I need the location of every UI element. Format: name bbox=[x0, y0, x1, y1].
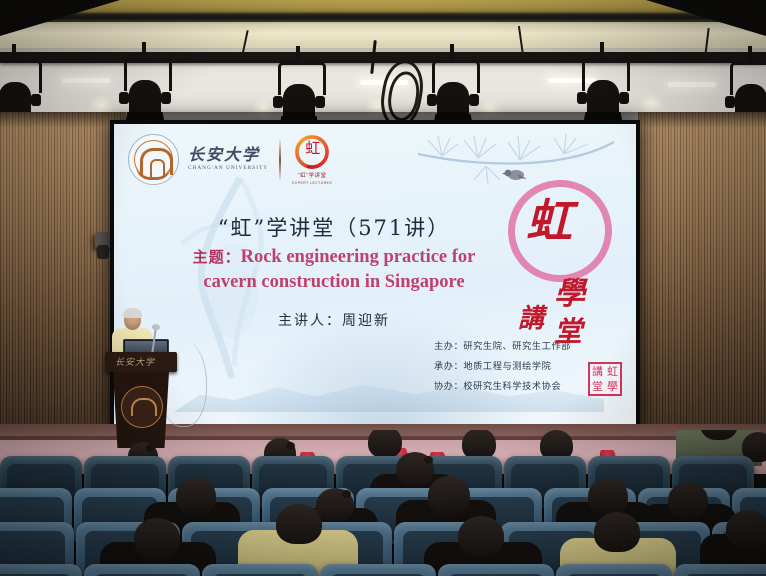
lecture-series-name-cn: “虹”学讲堂 bbox=[298, 171, 327, 179]
slide-title: “虹”学讲堂（571讲） bbox=[114, 212, 554, 242]
presenter-hair bbox=[123, 308, 142, 318]
slide-topic-line-2: cavern construction in Singapore bbox=[114, 272, 554, 293]
light-knob bbox=[619, 92, 629, 104]
audience-head bbox=[588, 478, 628, 514]
calligraphy-block: 虹 學 講 堂 講 虹 堂 學 bbox=[496, 180, 628, 390]
hair-bun bbox=[342, 490, 351, 498]
strip-light bbox=[62, 78, 110, 83]
audience-head bbox=[368, 430, 402, 458]
calligraphy-jiang: 講 bbox=[518, 298, 544, 335]
audience-head bbox=[134, 518, 180, 558]
light-knob bbox=[273, 96, 283, 108]
podium-top: 长安大学 bbox=[105, 352, 177, 372]
light-knob bbox=[427, 94, 437, 106]
topic-text-1: Rock engineering practice for bbox=[241, 247, 476, 267]
seal-char: 堂 bbox=[590, 379, 605, 394]
slide-topic-line-1: 主题：Rock engineering practice for bbox=[114, 246, 554, 268]
calligraphy-xue: 學 bbox=[554, 268, 585, 313]
hair-bun bbox=[146, 444, 155, 452]
ceiling-cove-band bbox=[0, 22, 766, 50]
university-name-block: 长安大学 CHANG'AN UNIVERSITY bbox=[188, 147, 268, 171]
slide-speaker-line: 主讲人：周迎新 bbox=[114, 310, 554, 330]
slide-logos: 长安大学 CHANG'AN UNIVERSITY 虹 “虹”学讲堂 EXPERT… bbox=[128, 134, 332, 185]
podium-emblem-icon bbox=[121, 386, 163, 428]
lecture-series-logo: 虹 “虹”学讲堂 EXPERT LECTURES bbox=[292, 135, 332, 185]
seal-char: 虹 bbox=[605, 364, 620, 379]
audience-head bbox=[176, 478, 216, 514]
wall-shading bbox=[638, 112, 766, 462]
light-knob bbox=[161, 92, 171, 104]
auditorium-seat bbox=[0, 564, 82, 576]
calligraphy-tang: 堂 bbox=[554, 310, 582, 350]
university-name-cn: 长安大学 bbox=[188, 147, 268, 163]
auditorium-seat bbox=[320, 564, 436, 576]
light-knob bbox=[577, 92, 587, 104]
lecture-series-name-en: EXPERT LECTURES bbox=[292, 181, 332, 185]
calligraphy-hong: 虹 bbox=[526, 198, 572, 244]
podium-label: 长安大学 bbox=[115, 355, 155, 368]
audience-head bbox=[668, 482, 708, 518]
hong-ring-wrapper: 虹 bbox=[295, 135, 329, 169]
auditorium-seat bbox=[202, 564, 318, 576]
auditorium-seat bbox=[674, 564, 766, 576]
hong-glyph: 虹 bbox=[305, 141, 318, 161]
university-name-en: CHANG'AN UNIVERSITY bbox=[188, 166, 268, 171]
chang-an-university-emblem-icon bbox=[128, 134, 179, 185]
ceiling bbox=[0, 0, 766, 128]
seal-char: 學 bbox=[605, 379, 620, 394]
auditorium-seat bbox=[438, 564, 554, 576]
hair-bun bbox=[424, 456, 433, 464]
audience-head bbox=[276, 504, 322, 544]
audience-head bbox=[726, 510, 766, 548]
audience-area bbox=[0, 430, 766, 576]
strip-light bbox=[668, 82, 716, 87]
light-knob bbox=[31, 94, 41, 106]
light-knob bbox=[469, 94, 479, 106]
light-knob bbox=[725, 96, 735, 108]
lighting-truss bbox=[0, 52, 766, 63]
auditorium-seat bbox=[84, 564, 200, 576]
downlight bbox=[96, 102, 107, 108]
hair-bun bbox=[286, 442, 295, 450]
lecture-hall-photo: 长安大学 CHANG'AN UNIVERSITY 虹 “虹”学讲堂 EXPERT… bbox=[0, 0, 766, 576]
wall-panel-right bbox=[638, 112, 766, 462]
light-knob bbox=[119, 92, 129, 104]
auditorium-seat bbox=[556, 564, 672, 576]
light-knob bbox=[315, 96, 325, 108]
audience-head bbox=[594, 512, 640, 552]
logo-divider bbox=[279, 140, 281, 180]
downlight bbox=[646, 100, 657, 106]
audience-head bbox=[458, 516, 504, 556]
red-seal-stamp: 講 虹 堂 學 bbox=[588, 362, 622, 396]
seal-char: 講 bbox=[590, 364, 605, 379]
emblem-wing-motif bbox=[136, 166, 171, 180]
topic-label: 主题： bbox=[193, 248, 241, 266]
audience-head bbox=[428, 476, 470, 514]
